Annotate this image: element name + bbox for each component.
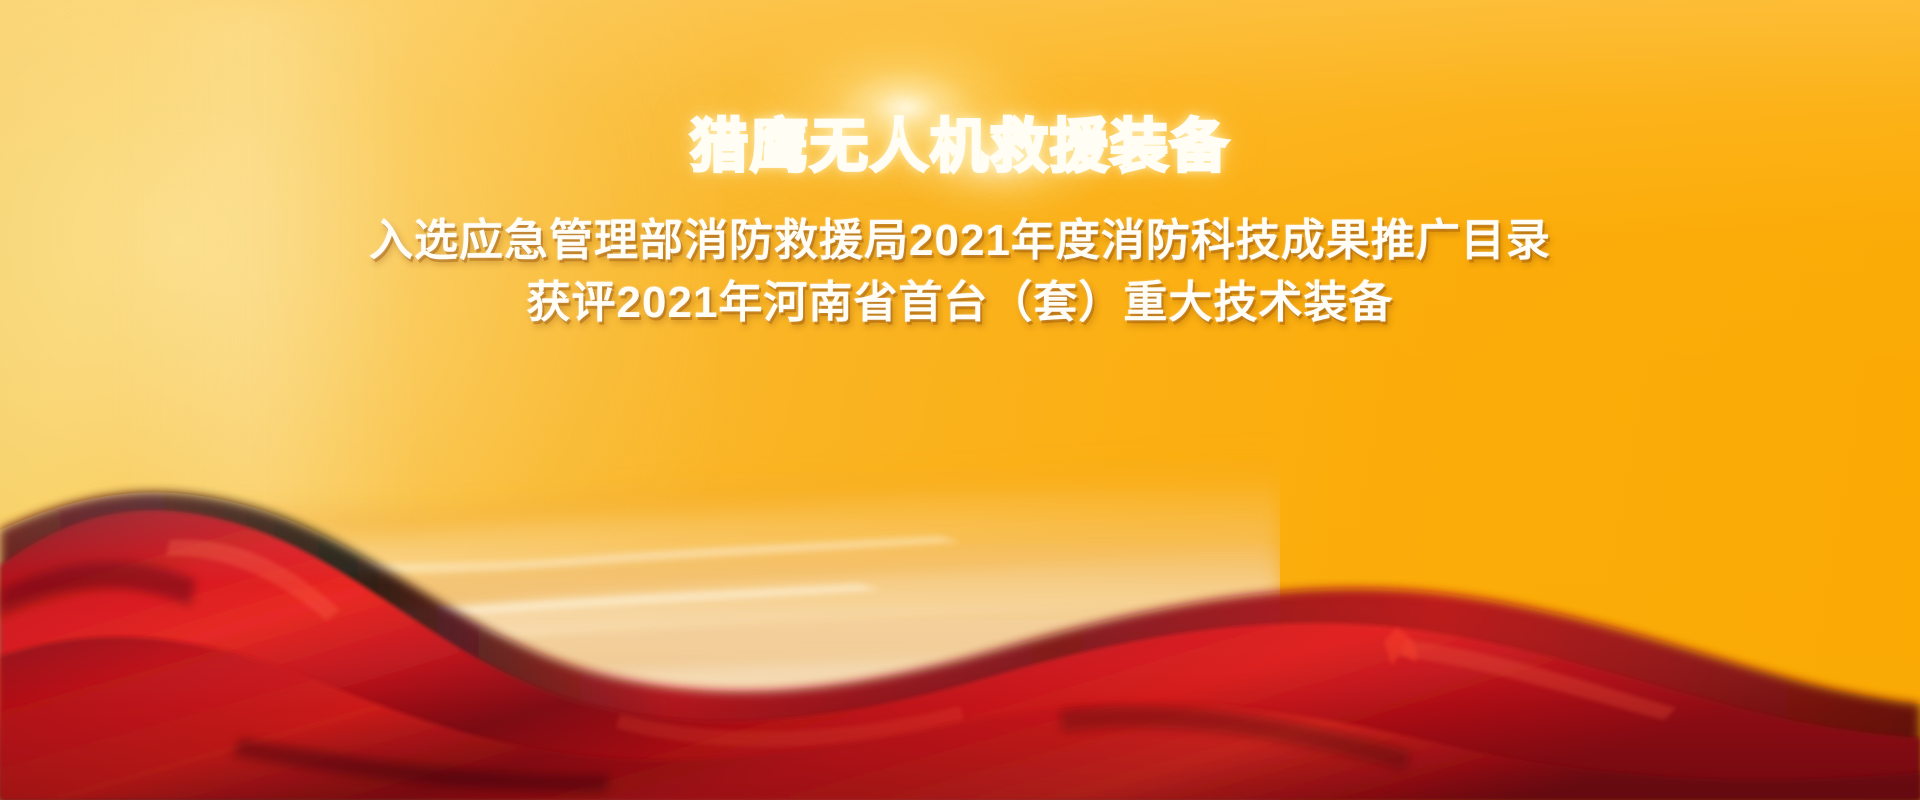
subtitle-line-2: 获评2021年河南省首台（套）重大技术装备: [0, 270, 1920, 332]
promo-banner: 猎鹰无人机救援装备 入选应急管理部消防救援局2021年度消防科技成果推广目录 获…: [0, 0, 1920, 800]
subtitle-line-1: 入选应急管理部消防救援局2021年度消防科技成果推广目录: [0, 176, 1920, 270]
page-title: 猎鹰无人机救援装备: [0, 0, 1920, 176]
banner-text-block: 猎鹰无人机救援装备 入选应急管理部消防救援局2021年度消防科技成果推广目录 获…: [0, 0, 1920, 332]
